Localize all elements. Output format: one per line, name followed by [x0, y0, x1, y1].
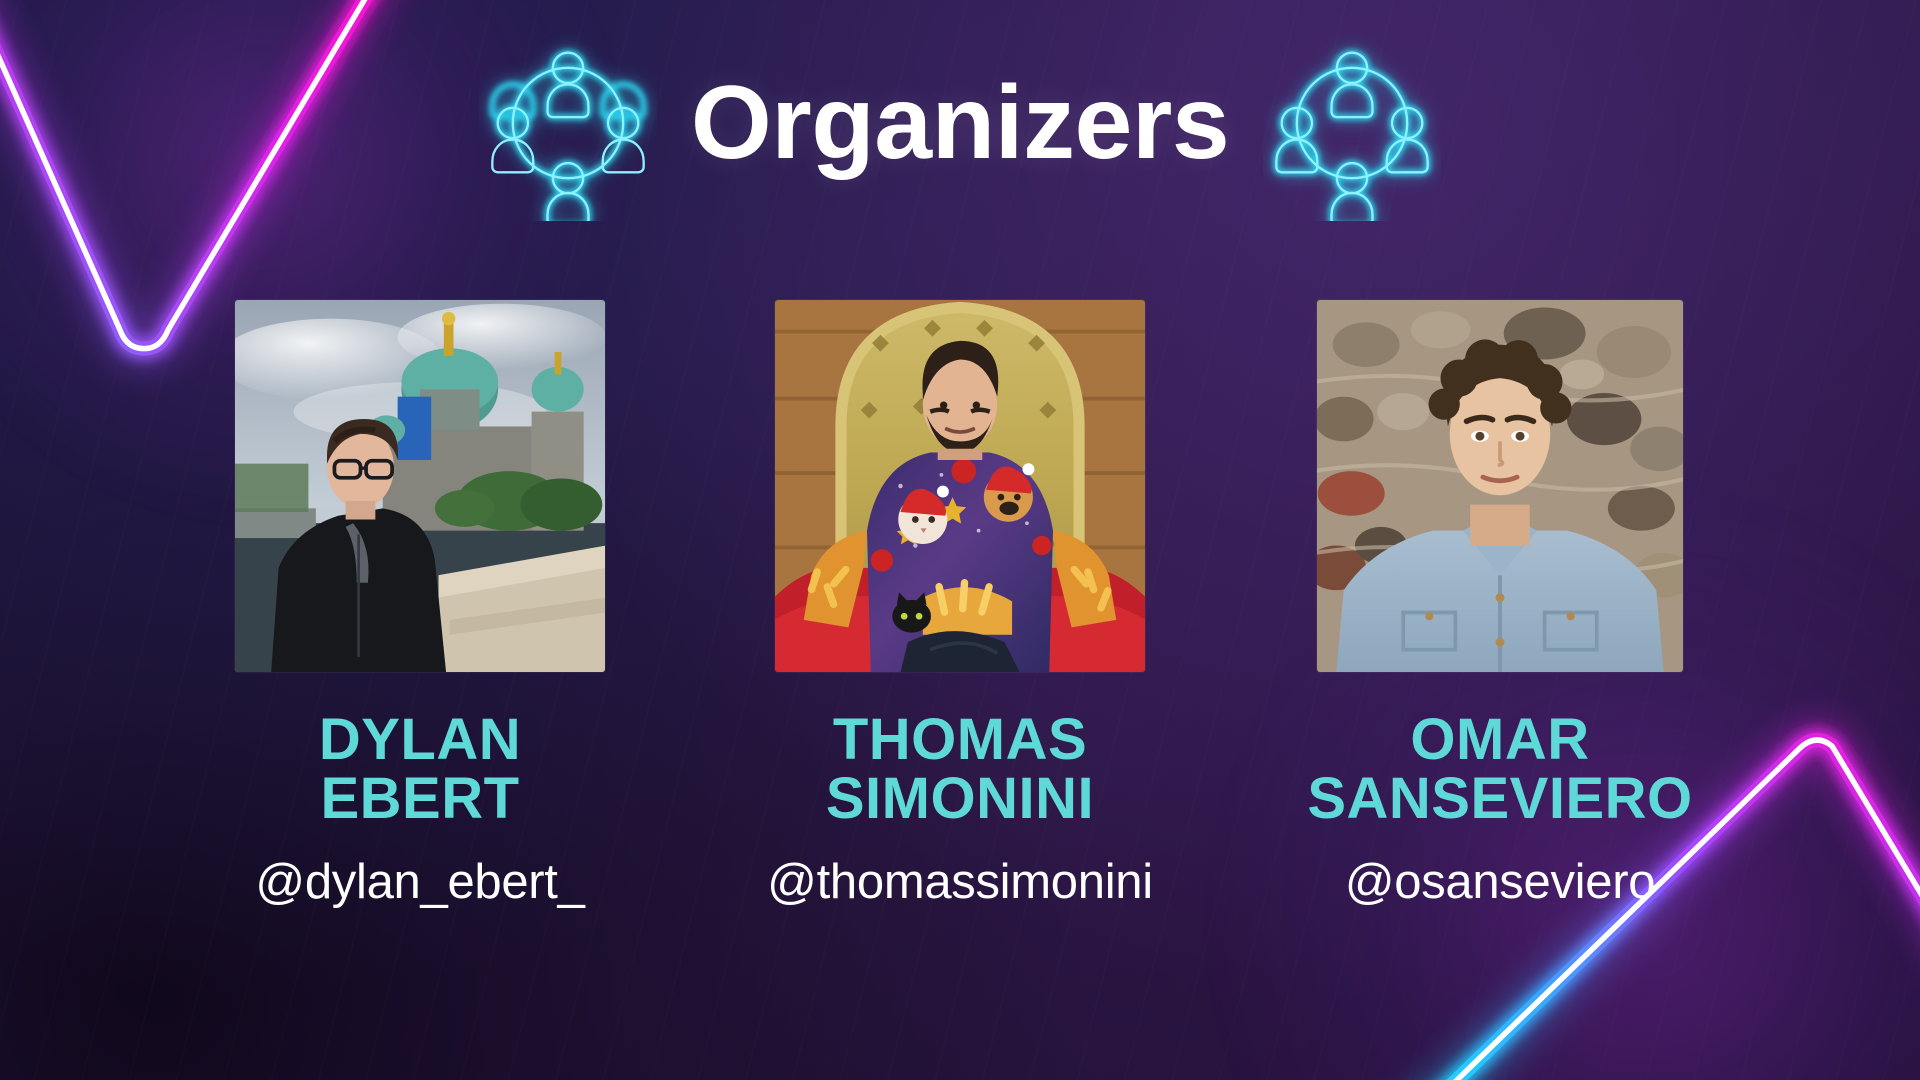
avatar	[1317, 300, 1683, 672]
slide-header: Organizers	[0, 18, 1920, 228]
organizer-handle[interactable]: @dylan_ebert_	[255, 854, 584, 910]
organizer-name-line2: EBERT	[320, 766, 519, 831]
avatar	[235, 300, 605, 672]
organizer-card: OMAR SANSEVIERO @osanseviero	[1250, 300, 1750, 910]
organizer-name-line2: SIMONINI	[826, 766, 1094, 831]
organizer-handle[interactable]: @thomassimonini	[767, 854, 1153, 910]
organizer-name-line1: DYLAN	[319, 707, 521, 772]
avatar	[775, 300, 1145, 672]
slide-canvas: Organizers	[0, 0, 1920, 1080]
avatar-image-thomas	[775, 300, 1145, 672]
organizer-handle[interactable]: @osanseviero	[1345, 854, 1655, 910]
avatar-image-dylan	[235, 300, 605, 672]
organizer-card: DYLAN EBERT @dylan_ebert_	[170, 300, 670, 910]
organizer-name-line1: THOMAS	[833, 707, 1087, 772]
people-circle-icon	[1263, 25, 1441, 221]
organizer-name: OMAR SANSEVIERO	[1307, 710, 1692, 828]
people-circle-icon	[479, 25, 657, 221]
organizer-name-line2: SANSEVIERO	[1307, 766, 1692, 831]
organizer-card: THOMAS SIMONINI @thomassimonini	[710, 300, 1210, 910]
organizer-name: THOMAS SIMONINI	[826, 710, 1094, 828]
organizer-name: DYLAN EBERT	[319, 710, 521, 828]
organizer-name-line1: OMAR	[1410, 707, 1589, 772]
page-title: Organizers	[691, 71, 1229, 175]
organizers-list: DYLAN EBERT @dylan_ebert_	[0, 300, 1920, 910]
avatar-image-omar	[1317, 300, 1683, 672]
